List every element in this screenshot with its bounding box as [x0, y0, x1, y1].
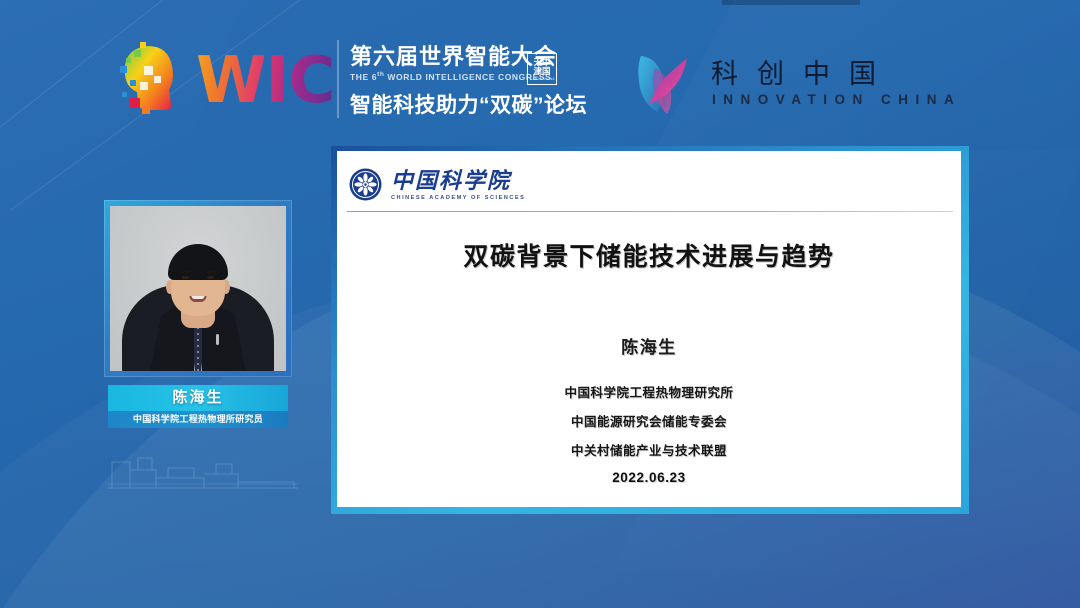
- slide-date: 2022.06.23: [337, 470, 961, 485]
- speaker-video-feed[interactable]: [110, 206, 286, 371]
- wic-logo: WIC: [118, 36, 334, 126]
- slide-author: 陈海生: [337, 333, 961, 358]
- header-divider: [337, 40, 339, 118]
- speaker-role: 中国科学院工程热物理所研究员: [108, 411, 288, 428]
- tianjin-china-badge: 天中 津国 TIANJIN CHINA: [527, 53, 557, 85]
- presentation-slide[interactable]: 中国科学院 CHINESE ACADEMY OF SCIENCES 双碳背景下储…: [337, 151, 961, 507]
- broadcast-stage: WIC 第六届世界智能大会 THE 6th WORLD INTELLIGENCE…: [0, 0, 1080, 608]
- badge-sub: TIANJIN CHINA: [529, 77, 554, 81]
- innovation-china-name-cn: 科创中国: [711, 59, 961, 91]
- cas-name-cn: 中国科学院: [391, 169, 525, 193]
- person-brow-left: [180, 271, 190, 273]
- speaker-name: 陈海生: [108, 385, 288, 411]
- speaker-nameplate: 陈海生 中国科学院工程热物理所研究员: [108, 385, 288, 428]
- person-eye-left: [182, 276, 189, 279]
- speaker-panel: 陈海生 中国科学院工程热物理所研究员: [104, 200, 292, 428]
- slide-title: 双碳背景下储能技术进展与趋势: [337, 237, 961, 273]
- slide-affiliations: 中国科学院工程热物理研究所 中国能源研究会储能专委会 中关村储能产业与技术联盟 …: [337, 379, 961, 485]
- butterfly-wing-mark-icon: [633, 50, 695, 116]
- congress-name-cn: 第六届世界智能大会: [350, 44, 600, 70]
- cas-seal-icon: [349, 168, 382, 201]
- header-logo-bar: WIC 第六届世界智能大会 THE 6th WORLD INTELLIGENCE…: [0, 0, 1080, 150]
- affiliation-line: 中国能源研究会储能专委会: [337, 408, 961, 437]
- cas-logo: 中国科学院 CHINESE ACADEMY OF SCIENCES: [349, 168, 525, 201]
- person-brow-right: [206, 271, 216, 273]
- innovation-china-logo: 科创中国 INNOVATION CHINA: [633, 50, 961, 116]
- affiliation-line: 中国科学院工程热物理研究所: [337, 379, 961, 408]
- innovation-china-name-en: INNOVATION CHINA: [711, 92, 961, 107]
- forum-name-cn: 智能科技助力“双碳”论坛: [350, 89, 600, 119]
- lapel-microphone-icon: [216, 334, 219, 345]
- badge-line-2: 津国: [529, 67, 554, 77]
- background-skyline-lineart: [108, 448, 298, 492]
- person-eye-right: [207, 276, 214, 279]
- speaker-video-frame[interactable]: [104, 200, 292, 377]
- congress-name-en: THE 6th WORLD INTELLIGENCE CONGRESS: [350, 71, 600, 82]
- wic-wordmark: WIC: [196, 36, 334, 126]
- slide-header-rule: [347, 211, 953, 212]
- congress-title-block: 第六届世界智能大会 THE 6th WORLD INTELLIGENCE CON…: [350, 44, 600, 119]
- pixel-head-icon: [118, 36, 192, 126]
- cas-name-en: CHINESE ACADEMY OF SCIENCES: [391, 195, 525, 201]
- affiliation-line: 中关村储能产业与技术联盟: [337, 437, 961, 466]
- presentation-slide-frame[interactable]: 中国科学院 CHINESE ACADEMY OF SCIENCES 双碳背景下储…: [331, 146, 969, 514]
